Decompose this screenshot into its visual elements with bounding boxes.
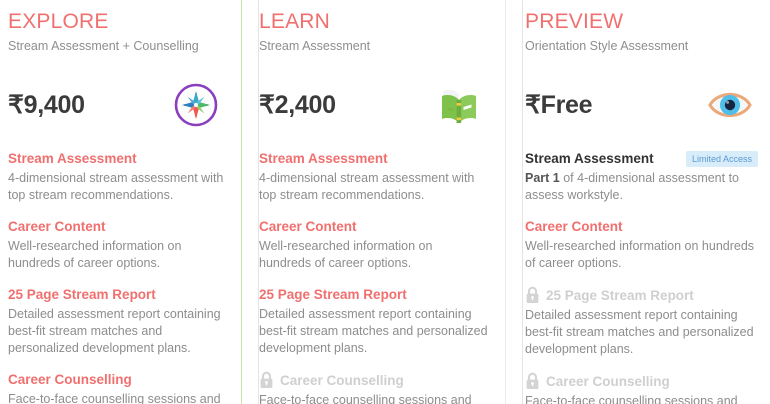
feature-item: 25 Page Stream Report Detailed assessmen…: [8, 286, 224, 357]
feature-description: Face-to-face counselling sessions and gu…: [259, 392, 488, 404]
feature-title: 25 Page Stream Report: [259, 286, 407, 303]
feature-title: 25 Page Stream Report: [8, 286, 156, 303]
plan-price-row: ₹2,400: [259, 74, 488, 136]
plan-title: LEARN: [259, 10, 488, 34]
feature-header: Career Counselling: [8, 371, 224, 388]
plan-card-learn[interactable]: LEARN Stream Assessment ₹2,400: [242, 0, 506, 404]
feature-header: 25 Page Stream Report: [525, 286, 760, 304]
plan-price: ₹9,400: [8, 90, 85, 120]
feature-description: 4-dimensional stream assessment with top…: [8, 170, 224, 204]
feature-title: Career Content: [259, 218, 357, 235]
feature-item: Career Content Well-researched informati…: [8, 218, 224, 272]
feature-item-locked: Career Counselling Face-to-face counsell…: [259, 371, 488, 404]
feature-description: Detailed assessment report containing be…: [259, 306, 488, 357]
feature-header: Career Content: [8, 218, 224, 235]
plan-subtitle: Stream Assessment: [259, 38, 488, 54]
lock-icon: [525, 286, 540, 304]
plan-subtitle: Stream Assessment + Counselling: [8, 38, 224, 54]
feature-title: Career Counselling: [280, 372, 404, 389]
feature-description: Face-to-face counselling sessions and gu…: [8, 391, 224, 404]
feature-item: 25 Page Stream Report Detailed assessmen…: [259, 286, 488, 357]
feature-header: Career Content: [525, 218, 760, 235]
feature-item: Career Counselling Face-to-face counsell…: [8, 371, 224, 404]
feature-header: Career Content: [259, 218, 488, 235]
lock-icon: [525, 372, 540, 390]
eye-icon: [706, 85, 754, 125]
feature-header: 25 Page Stream Report: [259, 286, 488, 303]
feature-title: Stream Assessment: [259, 150, 388, 167]
plan-title: PREVIEW: [525, 10, 760, 34]
feature-description: Face-to-face counselling sessions and gu…: [525, 393, 760, 404]
feature-title: Career Content: [525, 218, 623, 235]
plan-card-explore[interactable]: EXPLORE Stream Assessment + Counselling …: [0, 0, 242, 404]
feature-header: Career Counselling: [525, 372, 760, 390]
feature-title: Stream Assessment: [8, 150, 137, 167]
feature-list: Stream Assessment 4-dimensional stream a…: [259, 150, 488, 404]
feature-description: Detailed assessment report containing be…: [8, 306, 224, 357]
feature-header: Stream Assessment: [259, 150, 488, 167]
feature-list: Stream Assessment Limited Access Part 1 …: [525, 150, 760, 404]
feature-item-locked: 25 Page Stream Report Detailed assessmen…: [525, 286, 760, 358]
feature-item: Career Content Well-researched informati…: [525, 218, 760, 272]
lock-icon: [259, 371, 274, 389]
feature-header: Stream Assessment Limited Access: [525, 150, 760, 167]
pricing-plans-comparison: EXPLORE Stream Assessment + Counselling …: [0, 0, 770, 404]
plan-price: ₹Free: [525, 90, 592, 120]
feature-description: Detailed assessment report containing be…: [525, 307, 760, 358]
feature-item-locked: Career Counselling Face-to-face counsell…: [525, 372, 760, 404]
feature-title: Career Counselling: [8, 371, 132, 388]
feature-description: Well-researched information on hundreds …: [259, 238, 488, 272]
feature-header: Stream Assessment: [8, 150, 224, 167]
open-book-icon: [436, 82, 482, 128]
feature-item: Career Content Well-researched informati…: [259, 218, 488, 272]
feature-description-emphasis: Part 1: [525, 171, 560, 185]
feature-header: Career Counselling: [259, 371, 488, 389]
feature-title: Career Counselling: [546, 373, 670, 390]
feature-title: 25 Page Stream Report: [546, 287, 694, 304]
feature-item: Stream Assessment Limited Access Part 1 …: [525, 150, 760, 204]
feature-item: Stream Assessment 4-dimensional stream a…: [259, 150, 488, 204]
feature-list: Stream Assessment 4-dimensional stream a…: [8, 150, 224, 404]
feature-description: Well-researched information on hundreds …: [525, 238, 760, 272]
plan-price-row: ₹Free: [525, 74, 760, 136]
feature-title: Stream Assessment: [525, 150, 654, 167]
compass-star-icon: [174, 83, 218, 127]
plan-title: EXPLORE: [8, 10, 224, 34]
feature-description: Well-researched information on hundreds …: [8, 238, 224, 272]
feature-header: 25 Page Stream Report: [8, 286, 224, 303]
status-badge: Limited Access: [686, 151, 758, 167]
feature-title: Career Content: [8, 218, 106, 235]
feature-description: 4-dimensional stream assessment with top…: [259, 170, 488, 204]
plan-subtitle: Orientation Style Assessment: [525, 38, 760, 54]
feature-item: Stream Assessment 4-dimensional stream a…: [8, 150, 224, 204]
plan-card-preview[interactable]: PREVIEW Orientation Style Assessment ₹Fr…: [506, 0, 770, 404]
feature-description: Part 1 of 4-dimensional assessment to as…: [525, 170, 760, 204]
plan-price-row: ₹9,400: [8, 74, 224, 136]
plan-price: ₹2,400: [259, 90, 336, 120]
